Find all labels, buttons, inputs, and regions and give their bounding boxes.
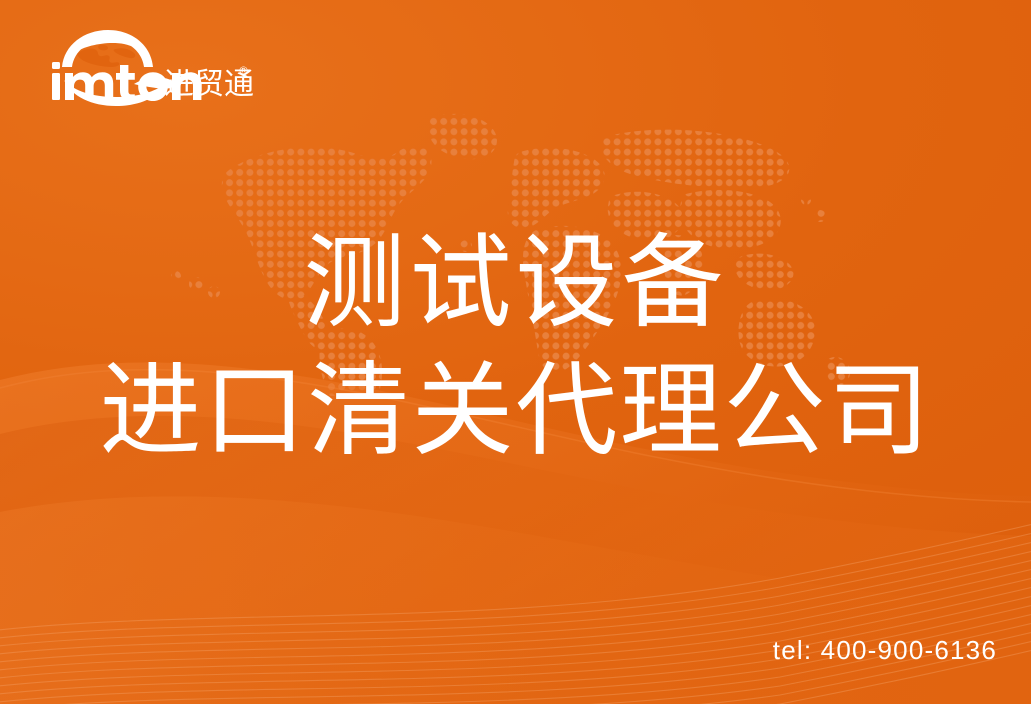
registered-trademark-icon: ® <box>238 65 249 76</box>
promotional-poster: 进贸通 ® 测试设备 进口清关代理公司 tel: 400-900-6136 <box>0 0 1031 704</box>
headline-line-2: 进口清关代理公司 <box>0 360 1031 462</box>
contact-phone: tel: 400-900-6136 <box>773 635 997 666</box>
headline-line-1: 测试设备 <box>0 232 1031 334</box>
imton-logo[interactable]: 进贸通 ® <box>38 27 243 109</box>
globe-arc-icon <box>62 30 153 67</box>
page-title: 测试设备 进口清关代理公司 <box>0 232 1031 462</box>
